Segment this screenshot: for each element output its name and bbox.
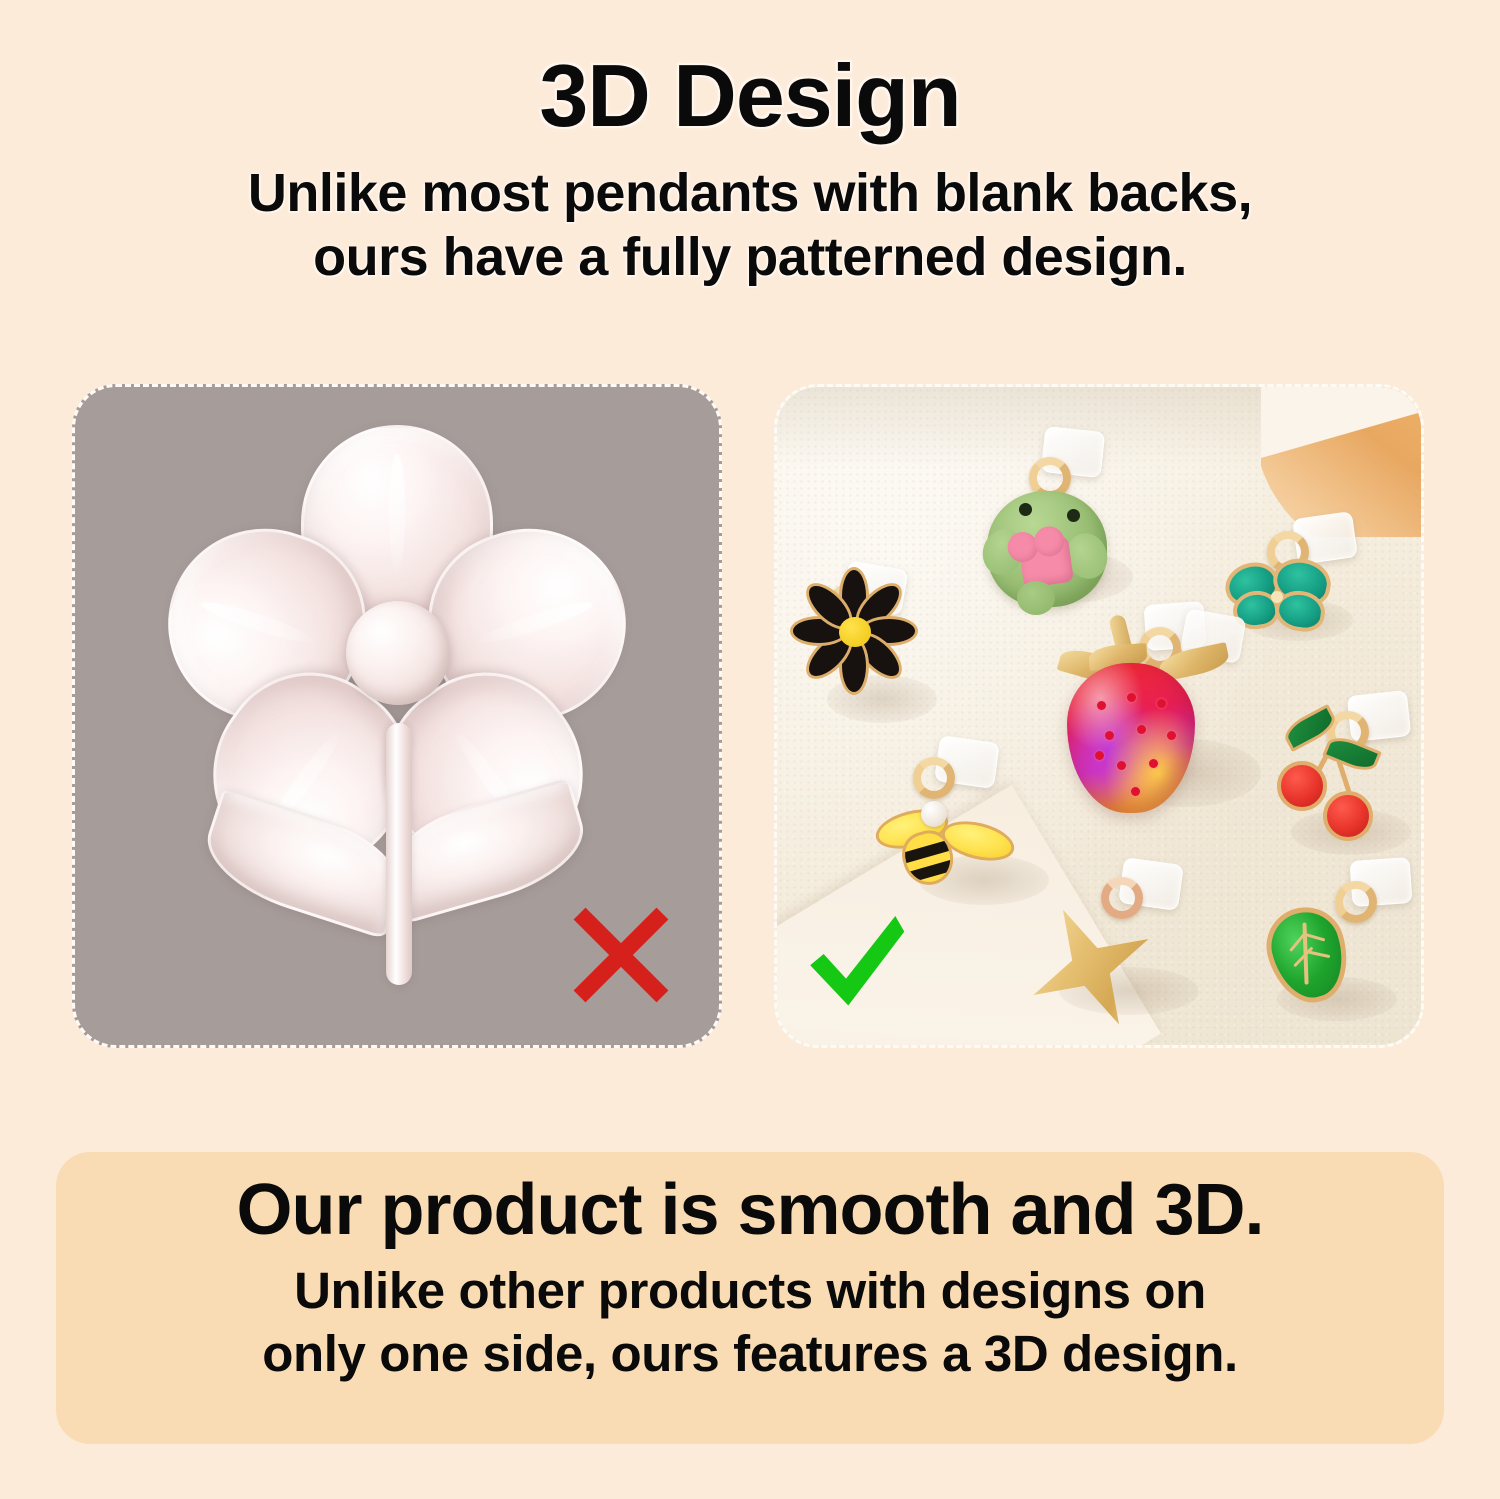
caption-body: Unlike other products with designs on on…	[56, 1259, 1444, 1387]
bad-example-panel	[72, 384, 722, 1048]
bee-charm	[869, 739, 1049, 919]
caption-body-line-2: only one side, ours features a 3D design…	[56, 1322, 1444, 1386]
daisy-charm	[787, 565, 937, 745]
comparison-panels	[0, 384, 1500, 1056]
strawberry-charm	[1035, 601, 1265, 851]
frog-charm	[969, 429, 1139, 619]
check-mark-icon	[799, 907, 911, 1019]
caption-headline: Our product is smooth and 3D.	[56, 1170, 1444, 1251]
subtitle-line-2: ours have a fully patterned design.	[0, 226, 1500, 290]
header: 3D Design Unlike most pendants with blan…	[0, 0, 1500, 289]
flower-stem	[386, 723, 412, 985]
caption-body-line-1: Unlike other products with designs on	[56, 1259, 1444, 1323]
flower-center	[346, 601, 450, 705]
good-example-panel	[774, 384, 1424, 1048]
bottom-caption-box: Our product is smooth and 3D. Unlike oth…	[56, 1152, 1444, 1444]
page-title: 3D Design	[0, 52, 1500, 140]
daisy-center	[839, 617, 871, 647]
cross-mark-icon	[565, 899, 677, 1011]
star-charm	[1033, 859, 1233, 1039]
subtitle-line-1: Unlike most pendants with blank backs,	[0, 162, 1500, 226]
page-subtitle: Unlike most pendants with blank backs, o…	[0, 162, 1500, 289]
cherry-charm	[1263, 687, 1424, 867]
flower-pendant-image	[162, 423, 632, 983]
leaf-charm	[1257, 859, 1424, 1039]
